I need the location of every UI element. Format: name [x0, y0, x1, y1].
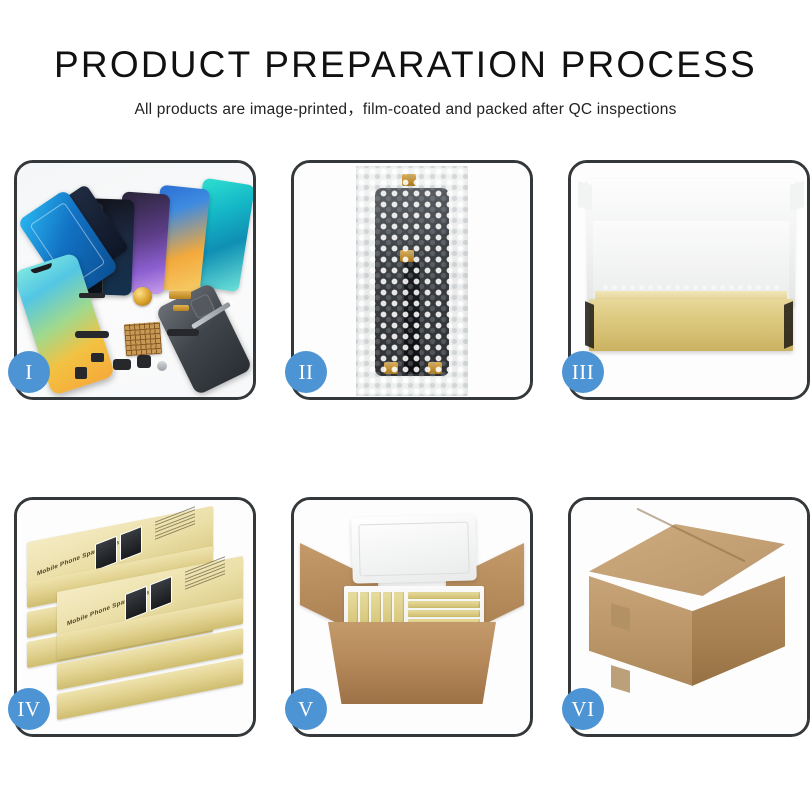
- part-speaker-module: [113, 359, 131, 370]
- bubble-highlights: [356, 166, 468, 396]
- header: PRODUCT PREPARATION PROCESS All products…: [0, 0, 811, 119]
- phone-parts-assortment-image: [17, 163, 253, 397]
- page-title: PRODUCT PREPARATION PROCESS: [0, 46, 811, 85]
- foam-lined-carton-image: [294, 500, 530, 734]
- kraft-tray-base: [589, 299, 793, 351]
- process-step-1: I: [14, 160, 256, 400]
- tray-shadow-left: [585, 301, 594, 349]
- step-badge-4: IV: [8, 688, 50, 730]
- process-step-6: VI: [568, 497, 810, 737]
- process-step-grid: I II: [14, 160, 797, 733]
- part-camera-module: [137, 355, 151, 368]
- tray-shadow-right: [784, 301, 793, 349]
- process-step-2: II: [291, 160, 533, 400]
- step-badge-3: III: [562, 351, 604, 393]
- sealed-shipping-carton-image: [571, 500, 807, 734]
- bubble-wrapped-screen-image: [294, 163, 530, 397]
- part-gold-clip: [169, 291, 191, 299]
- gold-contact-disc: [133, 287, 152, 306]
- step-badge-2: II: [285, 351, 327, 393]
- retail-box-thumb-b: [120, 526, 142, 562]
- retail-box-spec-lines-back: [155, 506, 195, 542]
- part-strip-1: [79, 293, 105, 298]
- stacked-retail-boxes-image: Mobile Phone Spare Parts M: [17, 500, 253, 734]
- connector-mesh-grid: [124, 322, 162, 356]
- product-preparation-infographic: PRODUCT PREPARATION PROCESS All products…: [0, 0, 811, 811]
- retail-box-thumb-d: [150, 576, 172, 612]
- part-gold-clip-2: [173, 305, 189, 311]
- box-stack: Mobile Phone Spare Parts M: [23, 518, 249, 720]
- carton-tape-lower: [611, 665, 630, 693]
- carton-top-face: [589, 524, 785, 596]
- part-flex-cable-right: [167, 329, 199, 336]
- phone-back-housing: [155, 282, 253, 395]
- part-connector-black: [75, 367, 87, 379]
- carton-body: [328, 622, 496, 704]
- process-step-3: III: [568, 160, 810, 400]
- page-subtitle: All products are image-printed，film-coat…: [0, 97, 811, 119]
- retail-box-thumb-c: [125, 586, 147, 622]
- foam-lid-open: [351, 514, 477, 583]
- bubble-wrap-bag: [356, 166, 468, 396]
- carton-front-face: [589, 576, 693, 686]
- step-badge-5: V: [285, 688, 327, 730]
- part-button-small: [91, 353, 104, 362]
- part-screw-set: [157, 361, 167, 371]
- process-step-5: V: [291, 497, 533, 737]
- part-flex-cable-left: [75, 331, 109, 338]
- open-kraft-tray-image: [571, 163, 807, 397]
- process-step-4: Mobile Phone Spare Parts M: [14, 497, 256, 737]
- step-badge-6: VI: [562, 688, 604, 730]
- step-badge-1: I: [8, 351, 50, 393]
